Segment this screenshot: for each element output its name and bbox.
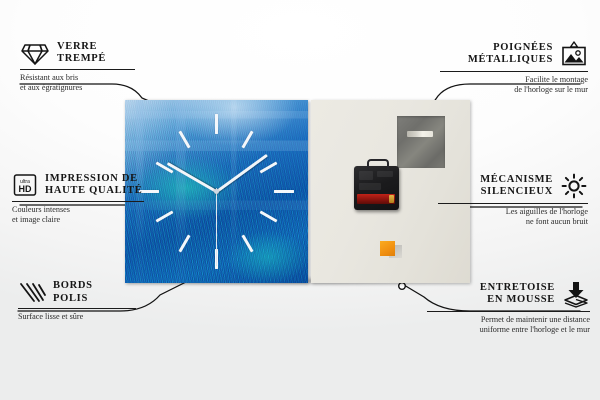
- feature-desc-line1: Permet de maintenir une distance: [405, 315, 590, 325]
- feature-desc-line2: de l'horloge sur le mur: [418, 85, 588, 95]
- polished-edges-icon: [18, 281, 46, 305]
- feature-title-line2: POLIS: [53, 293, 93, 306]
- feature-poignees-metalliques: POIGNÉES MÉTALLIQUES Facilite le montage…: [418, 40, 588, 95]
- foam-spacer-arrow-icon: [562, 280, 590, 308]
- feature-divider: [20, 69, 135, 70]
- feature-header: VERRE TREMPÉ: [20, 40, 170, 66]
- feature-title-line2: MÉTALLIQUES: [468, 54, 553, 67]
- feature-title: POIGNÉES MÉTALLIQUES: [468, 42, 553, 67]
- wall-mount-frame-icon: [560, 40, 588, 68]
- feature-title: BORDS POLIS: [53, 280, 93, 305]
- feature-desc-line1: Facilite le montage: [418, 75, 588, 85]
- feature-title-line1: VERRE: [57, 41, 106, 54]
- tick-11: [178, 131, 190, 149]
- mechanism-detail-a: [359, 171, 373, 180]
- ultra-hd-icon: ultra HD: [12, 172, 38, 198]
- feature-title-line2: HAUTE QUALITÉ: [45, 185, 143, 198]
- mechanism-detail-b: [377, 171, 393, 177]
- feature-desc-line1: Résistant aux bris: [20, 73, 170, 83]
- second-hand: [216, 188, 218, 266]
- mechanism-hanging-loop: [367, 159, 389, 170]
- feature-desc-line1: Couleurs intenses: [12, 205, 172, 215]
- feature-title-line1: BORDS: [53, 280, 93, 293]
- feature-title-line1: IMPRESSION DE: [45, 173, 143, 186]
- feature-title-line1: MÉCANISME: [480, 174, 553, 187]
- feature-header: MÉCANISME SILENCIEUX: [413, 172, 588, 200]
- feature-divider: [427, 311, 590, 312]
- mechanism-detail-c: [359, 183, 381, 190]
- feature-divider: [440, 71, 588, 72]
- feature-title-line2: TREMPÉ: [57, 53, 106, 66]
- tick-2: [260, 161, 278, 173]
- tick-4: [260, 210, 278, 222]
- feature-desc-line1: Surface lisse et sûre: [18, 312, 168, 322]
- tick-5: [241, 235, 253, 253]
- battery-terminal: [389, 195, 394, 203]
- infographic-canvas: VERRE TREMPÉ Résistant aux bris et aux é…: [0, 0, 600, 400]
- feature-title: ENTRETOISE EN MOUSSE: [480, 282, 555, 307]
- diamond-icon: [20, 40, 50, 66]
- feature-impression-haute-qualite: ultra HD IMPRESSION DE HAUTE QUALITÉ Cou…: [12, 172, 172, 225]
- feature-divider: [12, 201, 144, 202]
- feature-bords-polis: BORDS POLIS Surface lisse et sûre: [18, 280, 168, 322]
- feature-desc-line2: uniforme entre l'horloge et le mur: [405, 325, 590, 335]
- clock-center-cap: [214, 189, 219, 194]
- feature-title: MÉCANISME SILENCIEUX: [480, 174, 553, 199]
- svg-text:HD: HD: [19, 184, 32, 194]
- foam-spacer: [380, 241, 395, 256]
- feature-divider: [438, 203, 588, 204]
- feature-header: ultra HD IMPRESSION DE HAUTE QUALITÉ: [12, 172, 172, 198]
- feature-title-line2: SILENCIEUX: [480, 186, 553, 199]
- feature-header: POIGNÉES MÉTALLIQUES: [418, 40, 588, 68]
- feature-title-line1: POIGNÉES: [468, 42, 553, 55]
- gear-icon: [560, 172, 588, 200]
- feature-title: IMPRESSION DE HAUTE QUALITÉ: [45, 173, 143, 198]
- feature-header: BORDS POLIS: [18, 280, 168, 305]
- feature-title: VERRE TREMPÉ: [57, 41, 106, 66]
- feature-desc-line2: ne font aucun bruit: [413, 217, 588, 227]
- tick-7: [178, 235, 190, 253]
- feature-entretoise-en-mousse: ENTRETOISE EN MOUSSE Permet de maintenir…: [405, 280, 590, 335]
- feature-desc-line1: Les aiguilles de l'horloge: [413, 207, 588, 217]
- tick-3: [274, 190, 294, 193]
- tick-12: [215, 114, 218, 134]
- feature-verre-trempe: VERRE TREMPÉ Résistant aux bris et aux é…: [20, 40, 170, 93]
- feature-mecanisme-silencieux: MÉCANISME SILENCIEUX Les aiguilles de l'…: [413, 172, 588, 227]
- metal-hanger-plate: [397, 116, 445, 168]
- hanger-slot: [407, 131, 433, 137]
- tick-1: [241, 131, 253, 149]
- battery: [357, 194, 395, 204]
- feature-title-line1: ENTRETOISE: [480, 282, 555, 295]
- feature-divider: [18, 308, 136, 309]
- feature-desc-line2: et image claire: [12, 215, 172, 225]
- feature-desc-line2: et aux égratignures: [20, 83, 170, 93]
- clock-mechanism: [354, 166, 399, 210]
- feature-header: ENTRETOISE EN MOUSSE: [405, 280, 590, 308]
- feature-title-line2: EN MOUSSE: [480, 294, 555, 307]
